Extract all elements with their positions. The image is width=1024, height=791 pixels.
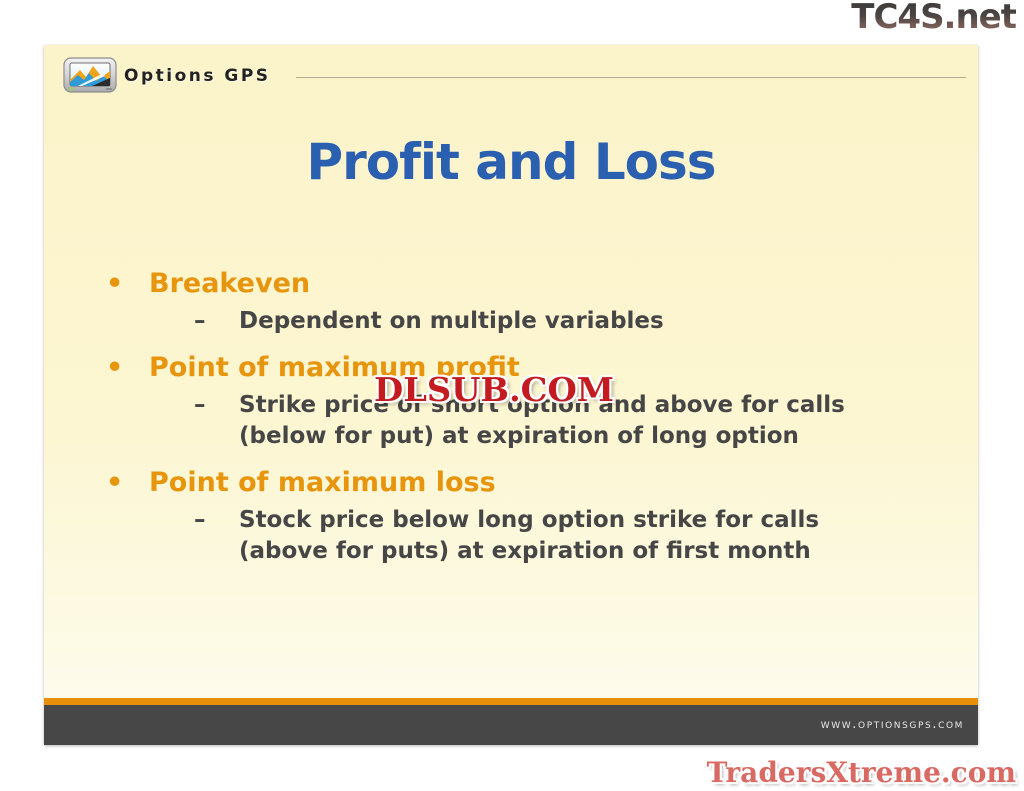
- page-title: Profit and Loss: [44, 133, 978, 191]
- header-divider: [296, 77, 966, 78]
- bullet-marker-icon: •: [106, 351, 123, 384]
- bullet-label: Breakeven: [149, 268, 310, 299]
- bullet-marker-icon: •: [106, 267, 123, 300]
- sub-bullet-line-1: Dependent on multiple variables: [239, 308, 664, 334]
- bullet-marker-icon: •: [106, 466, 123, 499]
- sub-bullet-line-2: (below for put) at expiration of long op…: [239, 421, 948, 452]
- brand-name: Options GPS: [124, 66, 271, 86]
- slide-content-list: • Breakeven – Dependent on multiple vari…: [94, 267, 948, 581]
- sub-bullet-line-1: Stock price below long option strike for…: [239, 507, 819, 533]
- sub-bullet-item: – Dependent on multiple variables: [94, 306, 948, 337]
- footer-url-label: www.OptionsGPS.com: [821, 717, 964, 732]
- tradersxtreme-watermark: TradersXtreme.com: [707, 756, 1016, 789]
- bullet-item: • Breakeven: [94, 267, 948, 300]
- bullet-item: • Point of maximum loss: [94, 466, 948, 499]
- footer-accent-stripe: [44, 698, 978, 705]
- sub-bullet-line-2: (above for puts) at expiration of first …: [239, 536, 948, 567]
- slide-footer: www.OptionsGPS.com: [44, 705, 978, 745]
- dlsub-watermark: DLSUB.COM: [374, 370, 614, 409]
- sub-bullet-item: – Stock price below long option strike f…: [94, 505, 948, 567]
- tc4s-watermark: TC4S.net: [851, 0, 1016, 36]
- slide-header: Options GPS: [44, 45, 978, 100]
- dash-marker-icon: –: [194, 306, 206, 337]
- dash-marker-icon: –: [194, 390, 206, 421]
- gps-device-icon: [62, 56, 118, 96]
- dash-marker-icon: –: [194, 505, 206, 536]
- bullet-label: Point of maximum loss: [149, 467, 496, 498]
